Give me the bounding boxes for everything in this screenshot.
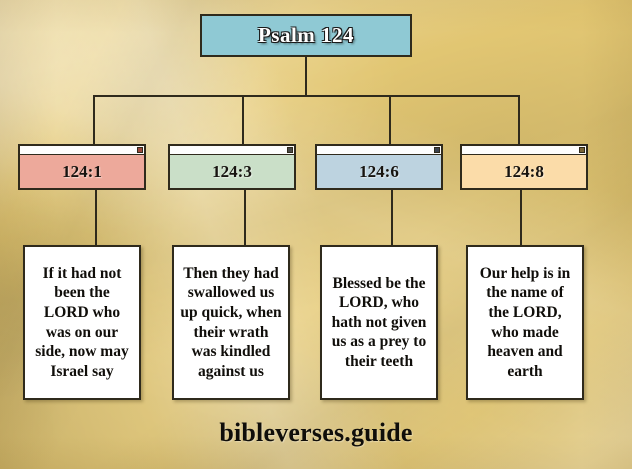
verse-text: Our help is in the name of the LORD, who… — [474, 264, 576, 381]
verse-node-titlebar[interactable] — [317, 146, 441, 155]
verse-node-label: 124:1 — [20, 155, 144, 188]
connector-verse-124-3-to-text — [244, 190, 246, 246]
connector-verse-124-6-to-text — [391, 190, 393, 246]
connector-root-to-bus — [305, 57, 307, 96]
verse-node-124-1[interactable]: 124:1 — [18, 144, 146, 190]
verse-node-label: 124:3 — [170, 155, 294, 188]
diagram-root-node-psalm-124[interactable]: Psalm 124 — [200, 14, 412, 57]
psalm-tree-diagram: Psalm 124 124:1 124:3 124:6 124:8 — [0, 0, 632, 469]
verse-text-box-124-1[interactable]: If it had not been the LORD who was on o… — [23, 245, 141, 400]
verse-node-titlebar[interactable] — [170, 146, 294, 155]
connector-bus-to-verse-124-1 — [93, 95, 95, 145]
connector-verse-124-8-to-text — [520, 190, 522, 246]
diagram-root-label: Psalm 124 — [258, 23, 354, 48]
verse-text: Blessed be the LORD, who hath not given … — [328, 274, 430, 372]
verse-node-titlebar[interactable] — [20, 146, 144, 155]
verse-node-124-6[interactable]: 124:6 — [315, 144, 443, 190]
close-icon[interactable] — [137, 147, 143, 153]
connector-verse-124-1-to-text — [95, 190, 97, 246]
footer-brand: bibleverses.guide — [0, 418, 632, 448]
verse-node-label: 124:6 — [317, 155, 441, 188]
verse-text: If it had not been the LORD who was on o… — [31, 264, 133, 381]
verse-text: Then they had swallowed us up quick, whe… — [180, 264, 282, 381]
connector-bus-to-verse-124-6 — [389, 95, 391, 145]
verse-node-124-8[interactable]: 124:8 — [460, 144, 588, 190]
close-icon[interactable] — [287, 147, 293, 153]
connector-horizontal-bus — [93, 95, 520, 97]
verse-text-box-124-8[interactable]: Our help is in the name of the LORD, who… — [466, 245, 584, 400]
close-icon[interactable] — [579, 147, 585, 153]
connector-bus-to-verse-124-8 — [518, 95, 520, 145]
close-icon[interactable] — [434, 147, 440, 153]
verse-text-box-124-6[interactable]: Blessed be the LORD, who hath not given … — [320, 245, 438, 400]
verse-text-box-124-3[interactable]: Then they had swallowed us up quick, whe… — [172, 245, 290, 400]
verse-node-label: 124:8 — [462, 155, 586, 188]
verse-node-titlebar[interactable] — [462, 146, 586, 155]
verse-node-124-3[interactable]: 124:3 — [168, 144, 296, 190]
connector-bus-to-verse-124-3 — [242, 95, 244, 145]
